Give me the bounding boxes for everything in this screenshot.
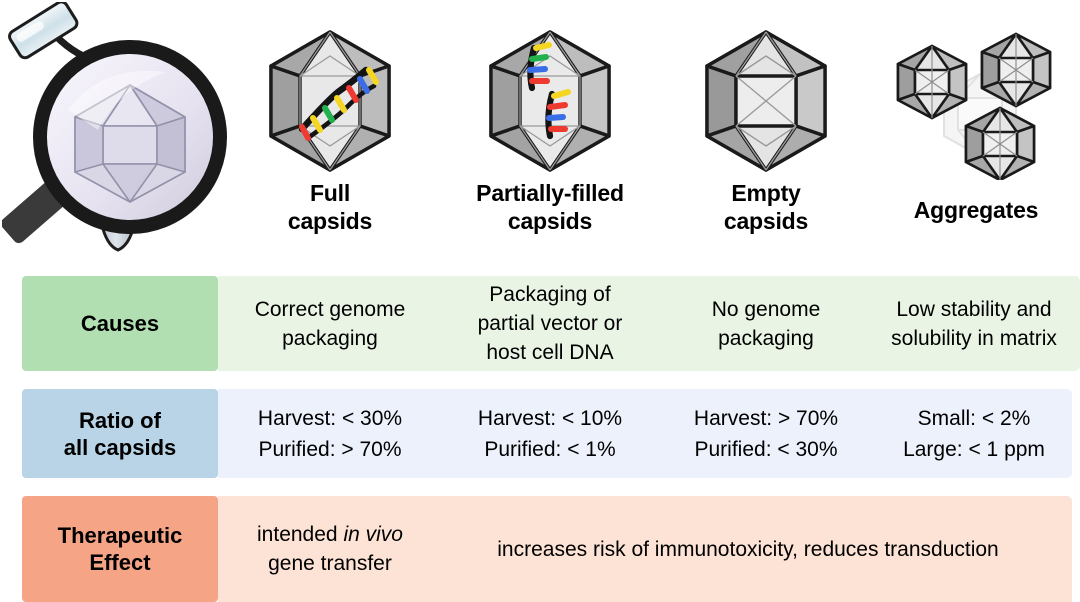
cell-line2: Purified: < 1% xyxy=(484,438,615,461)
cell-causes-partial: Packaging of partial vector or host cell… xyxy=(428,276,672,371)
cell-line2: Purified: > 70% xyxy=(258,438,401,461)
icosahedron-cluster-icon xyxy=(888,18,1068,180)
illustration-header-band: Full capsids xyxy=(0,0,1080,266)
cell-effect-merged-other-species: increases risk of immunotoxicity, reduce… xyxy=(420,496,1076,602)
cell-line2: partial vector or xyxy=(478,312,623,335)
column-aggregates: Aggregates xyxy=(872,0,1080,266)
column-title-line1: Empty xyxy=(731,180,800,206)
cell-ratio-full: Harvest: < 30% Purified: > 70% xyxy=(232,389,428,478)
cell-causes-aggregates: Low stability and solubility in matrix xyxy=(872,276,1076,371)
cell-ratio-aggregates: Small: < 2% Large: < 1 ppm xyxy=(872,389,1076,478)
table-row-ratio-of-all-capsids: Ratio of all capsids Harvest: < 30% Puri… xyxy=(0,389,1080,478)
row-label-text: Causes xyxy=(81,310,159,337)
icosahedron-empty-icon xyxy=(692,26,840,176)
row-label-therapeutic-effect: Therapeutic Effect xyxy=(22,496,218,602)
cell-line3: host cell DNA xyxy=(486,341,613,364)
cell-line1: Small: < 2% xyxy=(918,407,1031,430)
cell-line2: Large: < 1 ppm xyxy=(903,438,1045,461)
cell-causes-full: Correct genome packaging xyxy=(232,276,428,371)
cell-ratio-partial: Harvest: < 10% Purified: < 1% xyxy=(428,389,672,478)
row-label-ratio: Ratio of all capsids xyxy=(22,389,218,478)
table-row-causes: Causes Correct genome packaging Packagin… xyxy=(0,276,1080,371)
cell-line2: packaging xyxy=(282,327,378,350)
row-label-line2: all capsids xyxy=(64,435,177,460)
cell-line2: packaging xyxy=(718,327,814,350)
column-title-line2: capsids xyxy=(288,208,372,234)
cell-line1: No genome xyxy=(712,298,821,321)
cell-line1: Harvest: < 10% xyxy=(478,407,622,430)
magnifier-over-microtube-icon xyxy=(2,2,232,264)
cell-line1-italic: in vivo xyxy=(343,523,403,546)
table-row-therapeutic-effect: Therapeutic Effect intended in vivo gene… xyxy=(0,496,1080,602)
column-title-aggregates: Aggregates xyxy=(872,196,1080,224)
cell-effect-full: intended in vivo gene transfer xyxy=(232,496,428,602)
cell-line1: Harvest: > 70% xyxy=(694,407,838,430)
cell-line2: gene transfer xyxy=(268,552,392,575)
icosahedron-with-partial-genome-icon xyxy=(476,26,624,176)
row-label-causes: Causes xyxy=(22,276,218,371)
column-title-partially-filled-capsids: Partially-filled capsids xyxy=(428,179,672,235)
cell-ratio-empty: Harvest: > 70% Purified: < 30% xyxy=(660,389,872,478)
cell-line1-prefix: intended xyxy=(257,523,343,546)
cell-line1: Harvest: < 30% xyxy=(258,407,402,430)
aav-capsid-comparison-figure: Full capsids xyxy=(0,0,1080,602)
column-title-line1: Aggregates xyxy=(914,197,1039,223)
column-title-line2: capsids xyxy=(508,208,592,234)
column-title-full-capsids: Full capsids xyxy=(232,179,428,235)
row-label-line1: Therapeutic xyxy=(58,523,183,548)
cell-line1: Low stability and xyxy=(896,298,1051,321)
cell-causes-empty: No genome packaging xyxy=(660,276,872,371)
column-partially-filled-capsids: Partially-filled capsids xyxy=(428,0,672,266)
cell-line2: Purified: < 30% xyxy=(694,438,837,461)
cell-merged-text: increases risk of immunotoxicity, reduce… xyxy=(497,535,998,564)
row-label-line1: Ratio of xyxy=(79,408,161,433)
cell-line1: Packaging of xyxy=(489,283,610,306)
column-title-line1: Full xyxy=(310,180,350,206)
row-label-line2: Effect xyxy=(89,550,150,575)
column-full-capsids: Full capsids xyxy=(232,0,428,266)
column-title-empty-capsids: Empty capsids xyxy=(660,179,872,235)
column-title-line2: capsids xyxy=(724,208,808,234)
column-empty-capsids: Empty capsids xyxy=(660,0,872,266)
column-title-line1: Partially-filled xyxy=(476,180,624,206)
cell-line2: solubility in matrix xyxy=(891,327,1057,350)
icosahedron-with-full-genome-icon xyxy=(256,26,404,176)
cell-line1: Correct genome xyxy=(255,298,406,321)
